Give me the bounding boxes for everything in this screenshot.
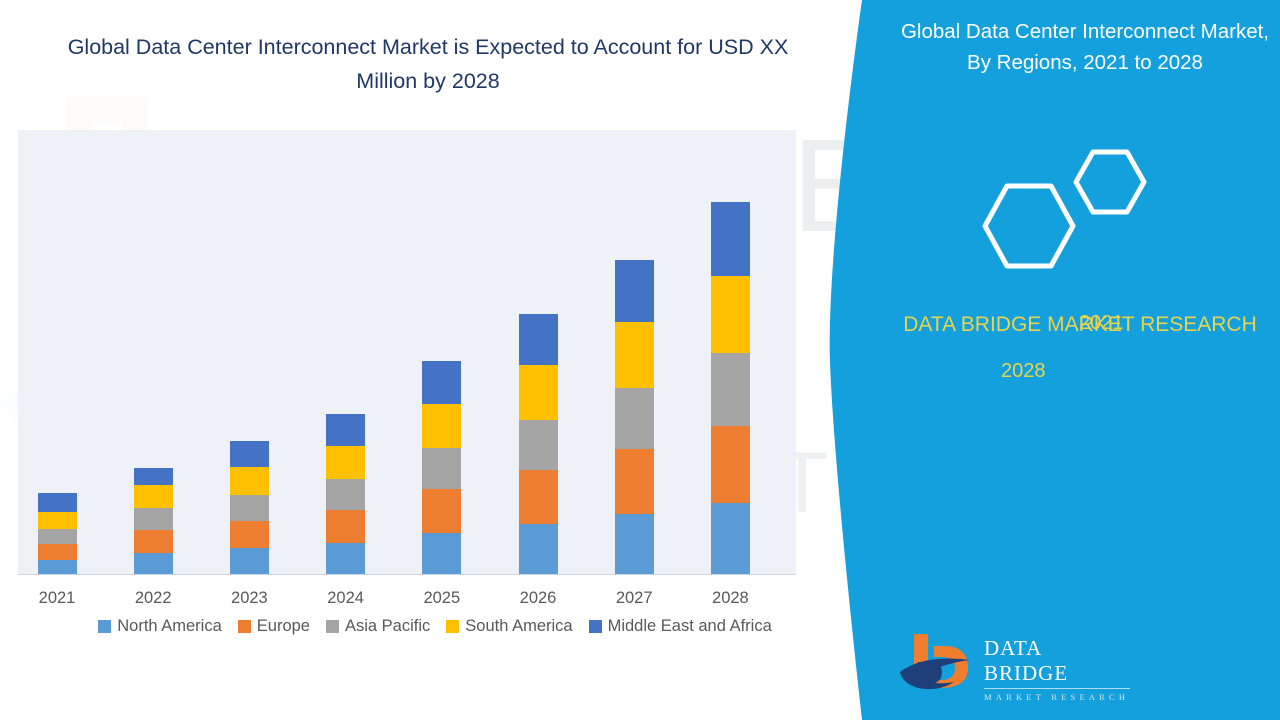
bar-segment <box>134 468 173 485</box>
logo-b-mark-icon <box>898 628 976 694</box>
bar-segment <box>134 553 173 574</box>
bar-series-container <box>18 130 796 574</box>
panel-content: Global Data Center Interconnect Market, … <box>880 0 1280 720</box>
bar-segment <box>519 524 558 574</box>
infographic-root: DATA BRIDGE MARKET RESEARCH Global Data … <box>0 0 1280 720</box>
bar-segment <box>326 543 365 574</box>
bar-segment <box>38 529 77 544</box>
x-axis-label-2023: 2023 <box>209 589 289 608</box>
legend-label: North America <box>117 617 222 636</box>
bar-segment <box>519 420 558 470</box>
bar-segment <box>230 521 269 548</box>
hexagon-group: 2021 2028 <box>975 138 1175 288</box>
bar-segment <box>422 361 461 404</box>
legend-swatch-icon <box>326 620 339 633</box>
legend-swatch-icon <box>589 620 602 633</box>
bar-segment <box>134 508 173 530</box>
x-axis-line <box>18 574 796 575</box>
bar-segment <box>519 365 558 420</box>
company-logo: DATA BRIDGE MARKET RESEARCH <box>898 628 1128 700</box>
bar-segment <box>134 485 173 508</box>
x-axis-label-2024: 2024 <box>306 589 386 608</box>
legend-item-asia-pacific[interactable]: Asia Pacific <box>326 617 430 636</box>
bar-segment <box>615 388 654 449</box>
x-axis-label-2025: 2025 <box>402 589 482 608</box>
bar-segment <box>38 493 77 512</box>
legend-label: Europe <box>257 617 310 636</box>
bar-segment <box>230 467 269 495</box>
legend-label: Asia Pacific <box>345 617 430 636</box>
logo-divider <box>984 688 1130 689</box>
hexagon-label-2028: 2028 <box>1001 360 1046 383</box>
bar-stack-2024 <box>326 414 365 574</box>
legend-item-south-america[interactable]: South America <box>446 617 572 636</box>
brand-name: DATA BRIDGE MARKET RESEARCH <box>890 308 1270 341</box>
x-axis-label-2026: 2026 <box>498 589 578 608</box>
bar-stack-2027 <box>615 260 654 574</box>
bar-segment <box>326 479 365 510</box>
bar-segment <box>422 404 461 448</box>
bar-segment <box>615 514 654 574</box>
bar-stack-2021 <box>38 493 77 574</box>
chart-title: Global Data Center Interconnect Market i… <box>48 30 808 98</box>
legend-item-north-america[interactable]: North America <box>98 617 222 636</box>
bar-segment <box>38 512 77 529</box>
bar-stack-2025 <box>422 361 461 574</box>
x-axis-label-2021: 2021 <box>17 589 97 608</box>
logo-main-text: DATA BRIDGE <box>984 636 1130 686</box>
bar-segment <box>711 503 750 574</box>
logo-wordmark: DATA BRIDGE MARKET RESEARCH <box>984 636 1130 702</box>
bar-stack-2023 <box>230 441 269 574</box>
chart-legend: North AmericaEuropeAsia PacificSouth Ame… <box>40 617 830 636</box>
hexagon-shapes-icon <box>975 138 1175 288</box>
bar-segment <box>615 449 654 514</box>
bar-segment <box>422 533 461 574</box>
x-axis-label-2027: 2027 <box>594 589 674 608</box>
x-axis-label-2022: 2022 <box>113 589 193 608</box>
legend-item-middle-east-and-africa[interactable]: Middle East and Africa <box>589 617 772 636</box>
legend-label: Middle East and Africa <box>608 617 772 636</box>
panel-title: Global Data Center Interconnect Market, … <box>900 16 1270 78</box>
bar-stack-2028 <box>711 202 750 574</box>
bar-segment <box>519 470 558 524</box>
bar-segment <box>422 489 461 533</box>
bar-segment <box>711 426 750 503</box>
bar-segment <box>711 353 750 426</box>
bar-segment <box>615 260 654 322</box>
legend-swatch-icon <box>98 620 111 633</box>
legend-item-europe[interactable]: Europe <box>238 617 310 636</box>
bar-segment <box>422 448 461 489</box>
legend-swatch-icon <box>238 620 251 633</box>
x-axis-labels: 20212022202320242025202620272028 <box>18 589 796 615</box>
bar-segment <box>326 446 365 479</box>
bar-segment <box>38 560 77 574</box>
bar-segment <box>711 202 750 276</box>
bar-segment <box>326 510 365 543</box>
bar-stack-2026 <box>519 314 558 574</box>
chart-panel: DATA BRIDGE MARKET RESEARCH Global Data … <box>0 0 870 720</box>
bar-segment <box>711 276 750 353</box>
bar-segment <box>230 548 269 574</box>
legend-label: South America <box>465 617 572 636</box>
bar-segment <box>615 322 654 388</box>
bar-segment <box>326 414 365 446</box>
legend-swatch-icon <box>446 620 459 633</box>
bar-segment <box>230 441 269 467</box>
logo-sub-text: MARKET RESEARCH <box>984 692 1130 702</box>
x-axis-label-2028: 2028 <box>690 589 770 608</box>
bar-segment <box>519 314 558 365</box>
bar-segment <box>134 530 173 553</box>
bar-stack-2022 <box>134 468 173 574</box>
bar-segment <box>230 495 269 521</box>
bar-segment <box>38 544 77 560</box>
